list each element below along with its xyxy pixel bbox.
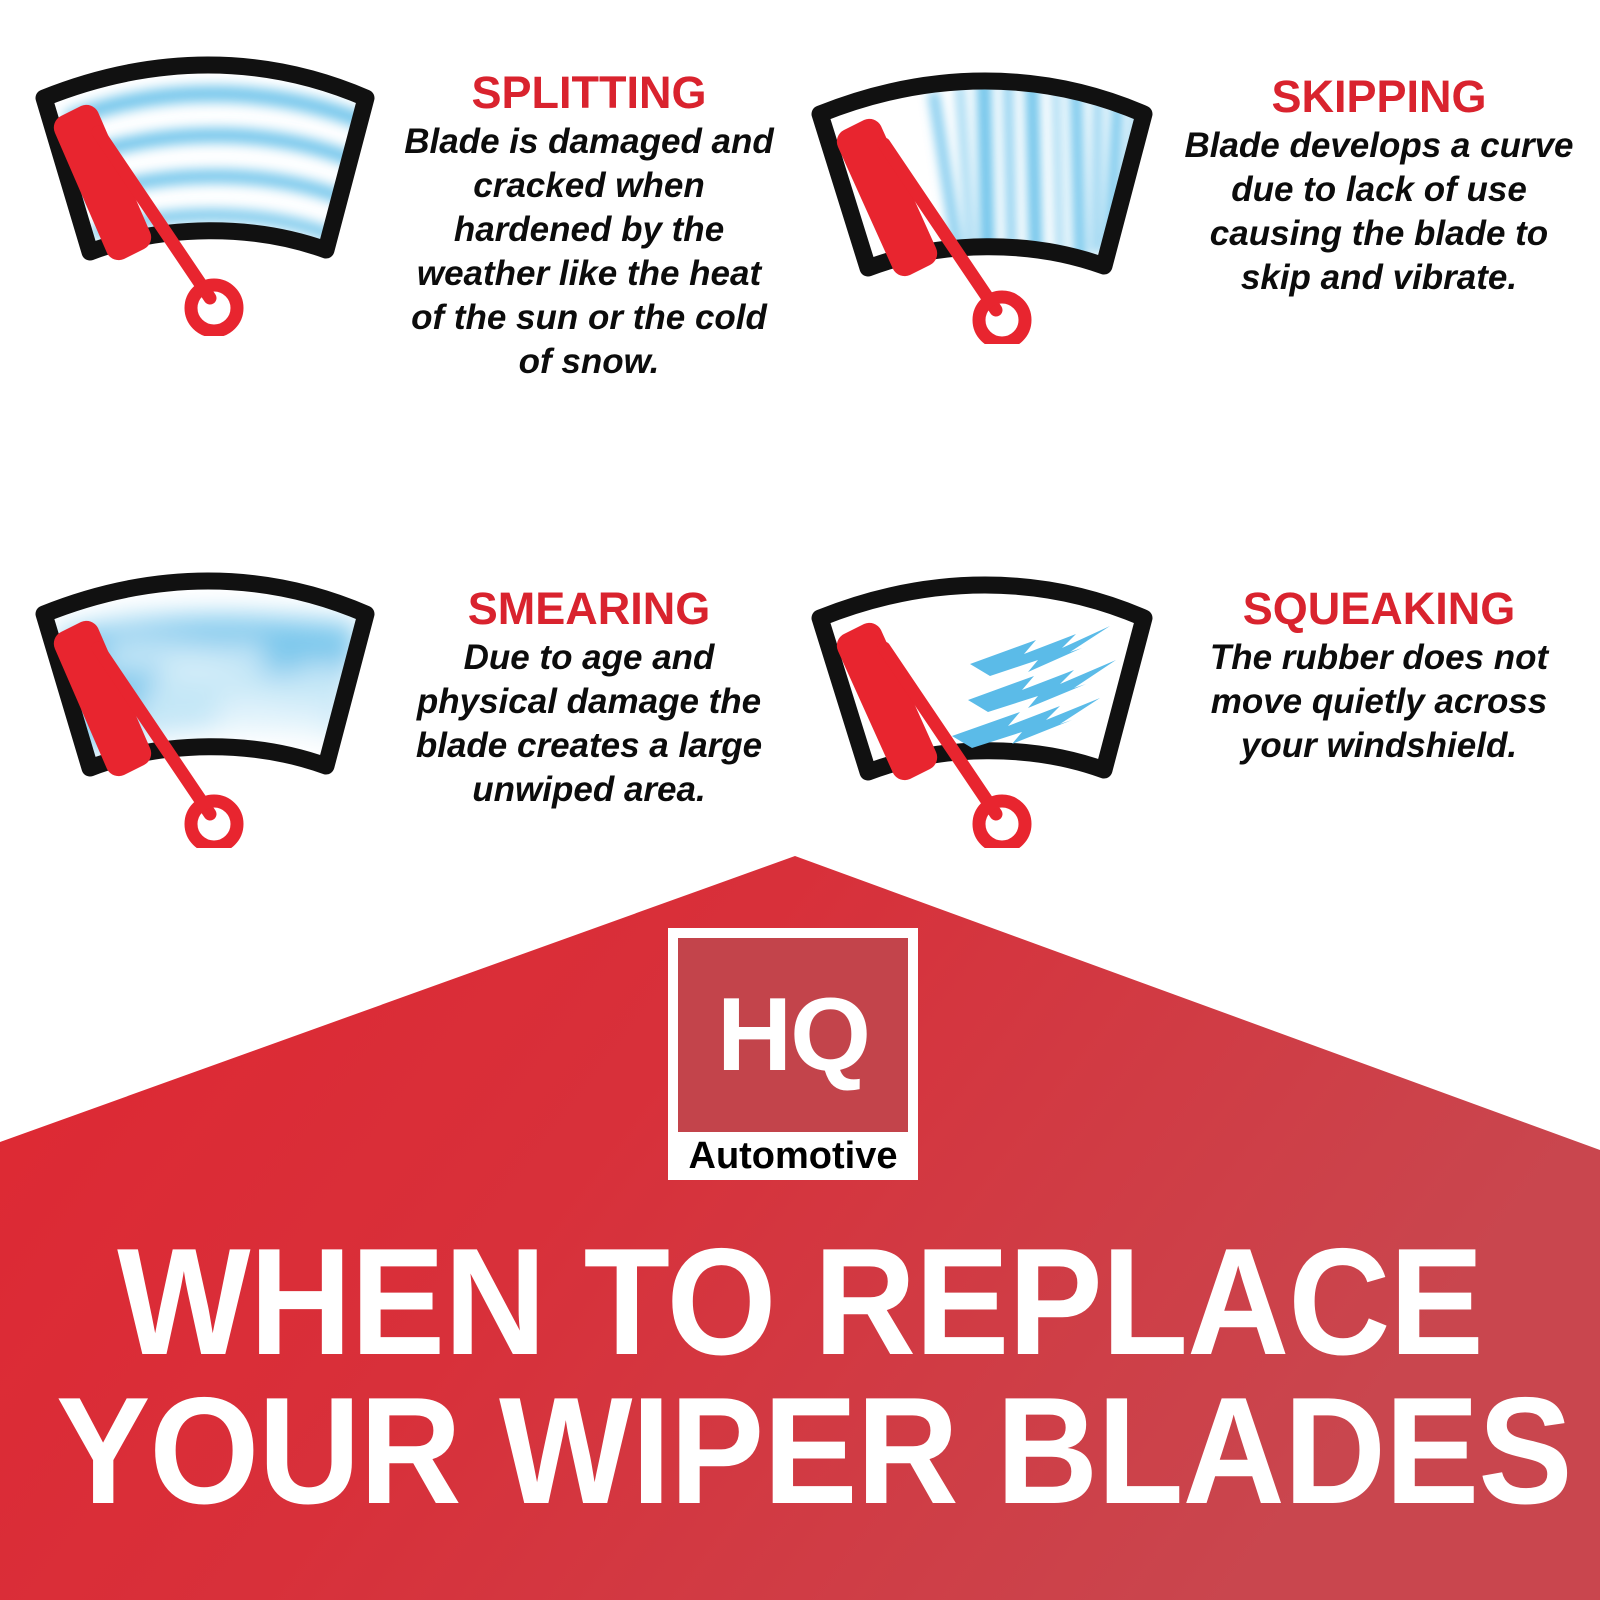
panel-smearing: SMEARING Due to age and physical damage … (14, 548, 784, 848)
panel-squeaking: SQUEAKING The rubber does not move quiet… (784, 548, 1584, 848)
headline-line-2: YOUR WIPER BLADES (56, 1377, 1544, 1526)
panel-title: SKIPPING (1174, 74, 1584, 120)
panel-description: Blade develops a curve due to lack of us… (1174, 124, 1584, 300)
logo-mark-text: HQ (717, 983, 869, 1087)
panel-text-smearing: SMEARING Due to age and physical damage … (394, 548, 784, 812)
panel-splitting: SPLITTING Blade is damaged and cracked w… (14, 36, 784, 384)
windshield-wiper-smearing-icon (14, 548, 394, 848)
windshield-wiper-splitting-icon (14, 36, 394, 336)
panel-description: The rubber does not move quietly across … (1174, 636, 1584, 768)
panel-text-splitting: SPLITTING Blade is damaged and cracked w… (394, 36, 784, 384)
hq-automotive-logo: HQ Automotive (668, 928, 918, 1180)
panel-title: SMEARING (394, 586, 784, 632)
panel-text-squeaking: SQUEAKING The rubber does not move quiet… (1174, 548, 1584, 768)
panel-text-skipping: SKIPPING Blade develops a curve due to l… (1174, 44, 1584, 300)
windshield-wiper-skipping-icon (784, 44, 1174, 344)
panel-description: Blade is damaged and cracked when harden… (394, 120, 784, 385)
panel-description: Due to age and physical damage the blade… (394, 636, 784, 812)
headline-line-1: WHEN TO REPLACE (56, 1228, 1544, 1377)
panel-title: SQUEAKING (1174, 586, 1584, 632)
logo-mark-box: HQ (678, 938, 908, 1132)
symptom-panels: SPLITTING Blade is damaged and cracked w… (0, 0, 1600, 860)
windshield-wiper-squeaking-icon (784, 548, 1174, 848)
panel-title: SPLITTING (394, 70, 784, 116)
page-title: WHEN TO REPLACE YOUR WIPER BLADES (0, 1228, 1600, 1526)
logo-wordmark: Automotive (678, 1132, 908, 1180)
panel-skipping: SKIPPING Blade develops a curve due to l… (784, 44, 1584, 344)
